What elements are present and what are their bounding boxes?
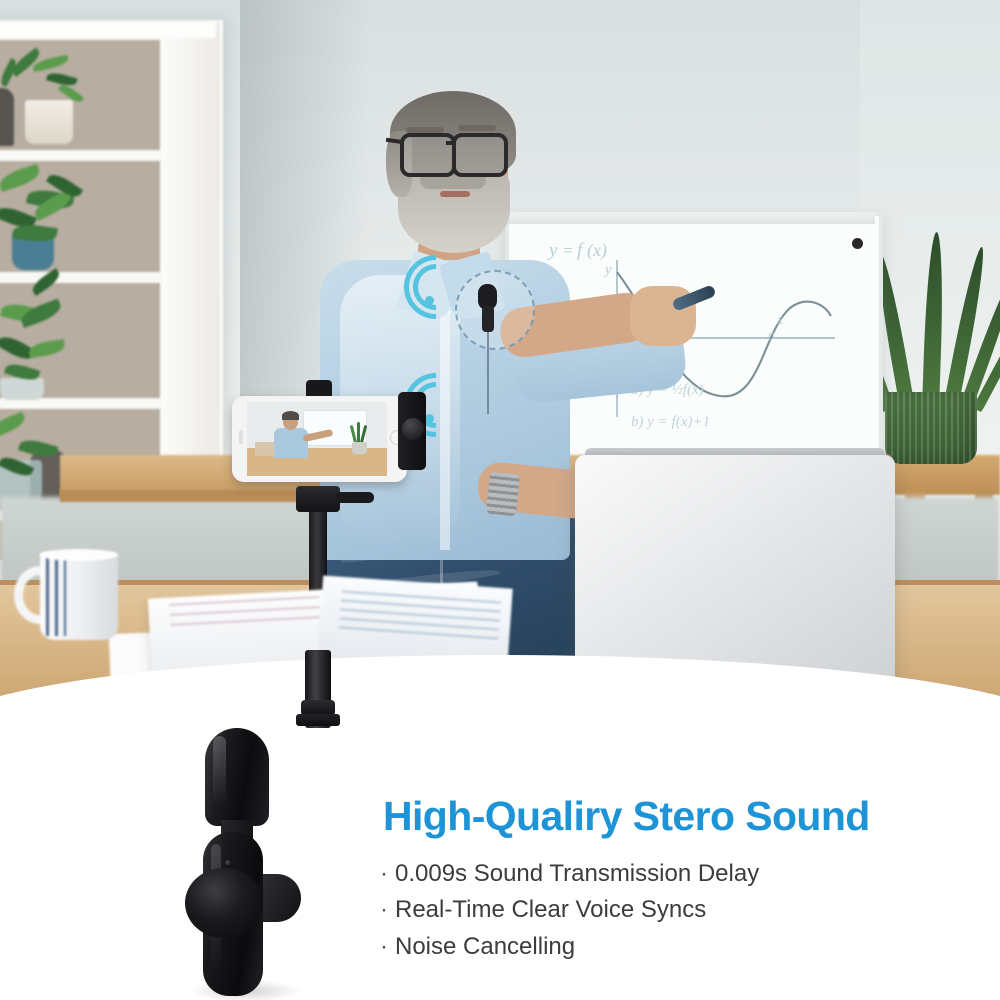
tripod-head [296,486,340,512]
product-marketing-image: y = f (x) y x 0 a) y = ½f(x) b) y = f(x)… [0,0,1000,1000]
mic-clip-knob [185,868,263,938]
svg-text:x: x [776,313,784,328]
feature-item-2: ·Real-Time Clear Voice Syncs [380,892,940,928]
clamp-knob [402,418,424,440]
banner-headline: High-Qualiry Stero Sound [383,793,870,840]
svg-text:0: 0 [768,329,774,343]
shelf-plant-pot-1 [25,100,73,144]
bullet-marker-icon: · [380,896,388,923]
svg-text:b) y = f(x)+1: b) y = f(x)+1 [631,414,710,430]
feature-item-1: ·0.009s Sound Transmission Delay [380,856,940,892]
mic-cable [487,330,489,414]
bullet-marker-icon: · [380,860,388,887]
shelf-plant-pot-3 [0,378,44,400]
product-banner: High-Qualiry Stero Sound ·0.009s Sound T… [0,700,1000,1000]
hero-photo: y = f (x) y x 0 a) y = ½f(x) b) y = f(x)… [0,0,1000,730]
shelf-figurine [0,88,14,146]
wristwatch [486,472,520,517]
presenter-glasses-right-lens [452,133,508,177]
smartphone-screen [247,402,387,476]
clip-on-lavalier-mic-body [482,306,494,332]
feature-item-3: ·Noise Cancelling [380,929,940,965]
feature-list: ·0.009s Sound Transmission Delay ·Real-T… [380,856,940,965]
feature-item-3-label: Noise Cancelling [395,933,575,960]
snake-plant-pot-ribs [885,392,977,464]
feature-item-1-label: 0.009s Sound Transmission Delay [395,860,759,887]
wireless-lavalier-microphone [185,728,315,996]
presenter-glasses [400,133,456,177]
bullet-marker-icon: · [380,933,388,960]
feature-item-2-label: Real-Time Clear Voice Syncs [395,896,706,923]
laptop [575,455,895,685]
mic-indicator-dot [225,860,230,865]
mic-highlight-circle [455,270,535,350]
